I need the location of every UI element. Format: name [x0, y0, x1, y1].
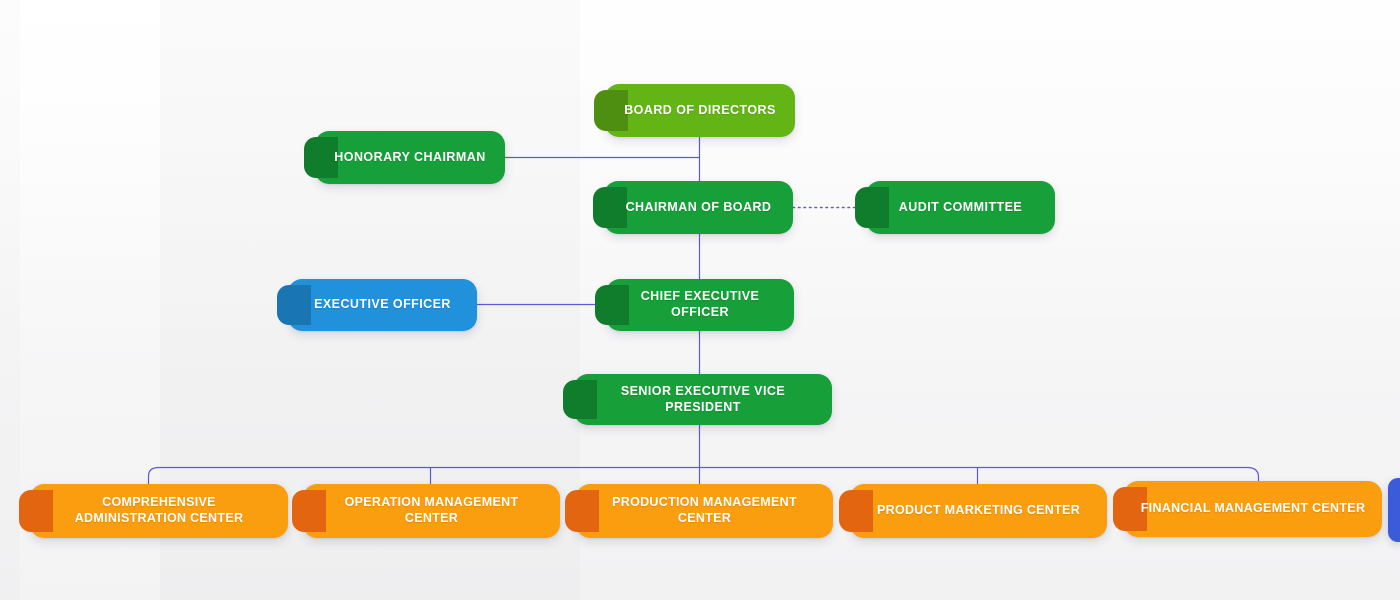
- node-label: EXECUTIVE OFFICER: [314, 297, 451, 313]
- node-product-marketing-center[interactable]: PRODUCT MARKETING CENTER: [850, 484, 1107, 538]
- node-label: PRODUCT MARKETING CENTER: [877, 503, 1080, 519]
- node-financial-management-center[interactable]: FINANCIAL MANAGEMENT CENTER: [1124, 481, 1382, 537]
- node-label: COMPREHENSIVE ADMINISTRATION CENTER: [46, 495, 272, 526]
- org-chart-canvas: BOARD OF DIRECTORS HONORARY CHAIRMAN CHA…: [0, 0, 1400, 600]
- node-label: BOARD OF DIRECTORS: [624, 103, 776, 119]
- node-board-of-directors[interactable]: BOARD OF DIRECTORS: [605, 84, 795, 137]
- node-label: CHAIRMAN OF BOARD: [626, 200, 772, 216]
- node-chairman-of-board[interactable]: CHAIRMAN OF BOARD: [604, 181, 793, 234]
- node-executive-officer[interactable]: EXECUTIVE OFFICER: [288, 279, 477, 331]
- node-audit-committee[interactable]: AUDIT COMMITTEE: [866, 181, 1055, 234]
- node-label: AUDIT COMMITTEE: [899, 200, 1022, 216]
- node-chief-executive-officer[interactable]: CHIEF EXECUTIVE OFFICER: [606, 279, 794, 331]
- node-senior-executive-vice-president[interactable]: SENIOR EXECUTIVE VICE PRESIDENT: [574, 374, 832, 425]
- node-comprehensive-administration-center[interactable]: COMPREHENSIVE ADMINISTRATION CENTER: [30, 484, 288, 538]
- node-operation-management-center[interactable]: OPERATION MANAGEMENT CENTER: [303, 484, 560, 538]
- node-label: OPERATION MANAGEMENT CENTER: [319, 495, 544, 526]
- node-label: FINANCIAL MANAGEMENT CENTER: [1141, 501, 1366, 517]
- node-label: HONORARY CHAIRMAN: [334, 150, 485, 166]
- node-label: PRODUCTION MANAGEMENT CENTER: [592, 495, 817, 526]
- node-label: SENIOR EXECUTIVE VICE PRESIDENT: [590, 384, 816, 415]
- node-offscreen-partial[interactable]: [1388, 478, 1400, 542]
- node-label: CHIEF EXECUTIVE OFFICER: [622, 289, 778, 320]
- node-honorary-chairman[interactable]: HONORARY CHAIRMAN: [315, 131, 505, 184]
- node-production-management-center[interactable]: PRODUCTION MANAGEMENT CENTER: [576, 484, 833, 538]
